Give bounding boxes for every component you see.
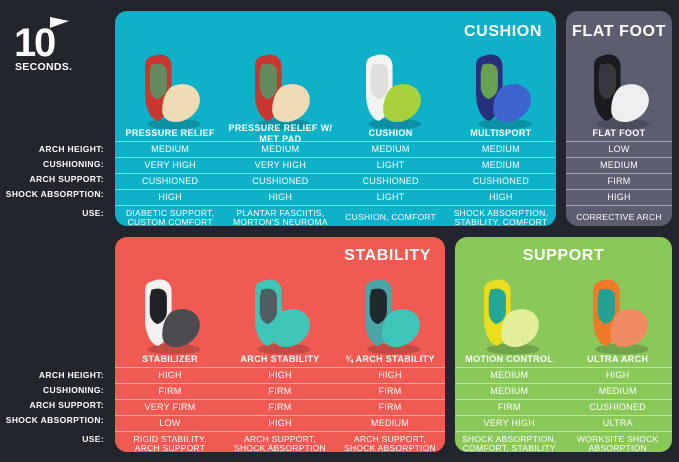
product-name-4: MULTISPORT	[446, 126, 556, 141]
row-label-group-bottom: ARCH HEIGHT:CUSHIONING:ARCH SUPPORT:SHOC…	[0, 367, 112, 451]
spec-row-use: DIABETIC SUPPORT, CUSTOM COMFORTPLANTAR …	[115, 205, 556, 226]
panel-support-title: SUPPORT	[455, 247, 672, 265]
product-name-2: PRESSURE RELIEF W/ MET PAD	[225, 126, 335, 141]
spec-value-arch-height-2: HIGH	[564, 368, 673, 383]
row-label-shock-absorption: SHOCK ABSORPTION:	[0, 412, 112, 427]
product-image-1	[115, 45, 225, 133]
product-image-1	[115, 269, 225, 359]
spec-value-shock-absorption-2: HIGH	[225, 416, 335, 431]
spec-value-use-1: CORRECTIVE ARCH	[566, 206, 672, 226]
panel-flat-foot: FLAT FOOT FLAT FOOTLOWMEDIUMFIRMHIGHCORR…	[566, 11, 672, 226]
spec-value-cushioning-1: MEDIUM	[455, 384, 564, 399]
insole-illustration	[580, 45, 658, 133]
spec-header-row: PRESSURE RELIEFPRESSURE RELIEF W/ MET PA…	[115, 126, 556, 141]
spec-value-shock-absorption-3: LIGHT	[336, 190, 446, 205]
panel-stability: STABILITY STABILIZERARCH STABILITY¾ ARCH…	[115, 237, 445, 452]
spec-row-cushioning: FIRMFIRMFIRM	[115, 383, 445, 399]
product-image-3	[336, 45, 446, 133]
spec-row-shock-absorption: HIGHHIGHLIGHTHIGH	[115, 189, 556, 205]
panel-stability-spec-table: STABILIZERARCH STABILITY¾ ARCH STABILITY…	[115, 352, 445, 452]
spec-value-use-2: WORKSITE SHOCK ABSORPTION	[564, 432, 673, 452]
spec-value-cushioning-2: VERY HIGH	[225, 158, 335, 173]
row-label-use: USE:	[0, 201, 112, 225]
spec-value-use-3: CUSHION, COMFORT	[336, 206, 446, 226]
spec-row-arch-height: MEDIUMHIGH	[455, 367, 672, 383]
panel-cushion-title: CUSHION	[464, 23, 542, 41]
spec-value-cushioning-1: VERY HIGH	[115, 158, 225, 173]
product-image-4	[446, 45, 556, 133]
insole-illustration	[241, 269, 319, 359]
spec-row-use: SHOCK ABSORPTION, COMFORT, STABILITYWORK…	[455, 431, 672, 452]
insole-illustration	[352, 45, 430, 133]
row-label-group-top: ARCH HEIGHT:CUSHIONING:ARCH SUPPORT:SHOC…	[0, 141, 112, 225]
spec-value-arch-support-1: FIRM	[455, 400, 564, 415]
panel-stability-products	[115, 269, 445, 359]
product-image-1	[566, 45, 672, 133]
spec-value-cushioning-4: MEDIUM	[446, 158, 556, 173]
spec-value-arch-support-3: CUSHIONED	[336, 174, 446, 189]
logo-numeral: 1 0	[13, 16, 75, 58]
product-image-1	[455, 269, 564, 359]
product-name-1: PRESSURE RELIEF	[115, 126, 225, 141]
row-label-cushioning: CUSHIONING:	[0, 382, 112, 397]
spec-value-use-1: DIABETIC SUPPORT, CUSTOM COMFORT	[115, 206, 225, 226]
spec-row-cushioning: MEDIUM	[566, 157, 672, 173]
spec-value-arch-height-1: LOW	[566, 142, 672, 157]
spec-row-arch-support: FIRMCUSHIONED	[455, 399, 672, 415]
insole-illustration	[462, 45, 540, 133]
spec-row-arch-support: CUSHIONEDCUSHIONEDCUSHIONEDCUSHIONED	[115, 173, 556, 189]
spec-value-use-1: SHOCK ABSORPTION, COMFORT, STABILITY	[455, 432, 564, 452]
product-name-3: CUSHION	[336, 126, 446, 141]
logo-wordmark: SECONDS.	[15, 61, 72, 73]
spec-value-shock-absorption-2: ULTRA	[564, 416, 673, 431]
spec-row-shock-absorption: HIGH	[566, 189, 672, 205]
insole-comparison-chart: 1 0 SECONDS. ARCH HEIGHT:CUSHIONING:ARCH…	[0, 0, 679, 462]
spec-value-shock-absorption-1: LOW	[115, 416, 225, 431]
spec-value-cushioning-1: FIRM	[115, 384, 225, 399]
spec-value-arch-height-4: MEDIUM	[446, 142, 556, 157]
spec-value-use-2: PLANTAR FASCIITIS, MORTON'S NEUROMA	[225, 206, 335, 226]
spec-row-arch-support: VERY FIRMFIRMFIRM	[115, 399, 445, 415]
product-name-1: STABILIZER	[115, 352, 225, 367]
spec-value-arch-height-1: HIGH	[115, 368, 225, 383]
row-label-shock-absorption: SHOCK ABSORPTION:	[0, 186, 112, 201]
spec-value-use-4: SHOCK ABSORPTION, STABILITY, COMFORT	[446, 206, 556, 226]
spec-value-arch-support-4: CUSHIONED	[446, 174, 556, 189]
spec-value-arch-support-2: CUSHIONED	[225, 174, 335, 189]
panel-flat-foot-title: FLAT FOOT	[566, 23, 672, 41]
product-name-1: FLAT FOOT	[566, 126, 672, 141]
spec-value-shock-absorption-1: HIGH	[115, 190, 225, 205]
spec-value-use-2: ARCH SUPPORT, SHOCK ABSORPTION	[225, 432, 335, 452]
spec-row-arch-height: MEDIUMMEDIUMMEDIUMMEDIUM	[115, 141, 556, 157]
spec-value-arch-height-3: MEDIUM	[336, 142, 446, 157]
panel-flat-foot-spec-table: FLAT FOOTLOWMEDIUMFIRMHIGHCORRECTIVE ARC…	[566, 126, 672, 226]
spec-row-cushioning: MEDIUMMEDIUM	[455, 383, 672, 399]
spec-value-arch-support-3: FIRM	[335, 400, 445, 415]
spec-value-arch-height-3: HIGH	[335, 368, 445, 383]
spec-value-cushioning-1: MEDIUM	[566, 158, 672, 173]
product-name-2: ARCH STABILITY	[225, 352, 335, 367]
row-label-arch-support: ARCH SUPPORT:	[0, 171, 112, 186]
spec-row-use: CORRECTIVE ARCH	[566, 205, 672, 226]
spec-value-use-3: ARCH SUPPORT, SHOCK ABSORPTION	[335, 432, 445, 452]
spec-value-arch-support-2: FIRM	[225, 400, 335, 415]
spec-value-arch-height-1: MEDIUM	[115, 142, 225, 157]
spec-value-cushioning-2: MEDIUM	[564, 384, 673, 399]
product-image-2	[564, 269, 673, 359]
insole-illustration	[470, 269, 548, 359]
insole-illustration	[351, 269, 429, 359]
spec-value-arch-height-2: HIGH	[225, 368, 335, 383]
spec-row-shock-absorption: LOWHIGHMEDIUM	[115, 415, 445, 431]
product-name-1: MOTION CONTROL	[455, 352, 564, 367]
spec-row-use: RIGID STABILITY, ARCH SUPPORTARCH SUPPOR…	[115, 431, 445, 452]
panel-flat-foot-products	[566, 45, 672, 133]
spec-value-shock-absorption-2: HIGH	[225, 190, 335, 205]
row-label-arch-height: ARCH HEIGHT:	[0, 367, 112, 382]
product-image-3	[335, 269, 445, 359]
row-label-use: USE:	[0, 427, 112, 451]
panel-stability-title: STABILITY	[344, 247, 431, 265]
spec-row-arch-height: LOW	[566, 141, 672, 157]
flag-icon	[49, 16, 71, 31]
spec-row-arch-support: FIRM	[566, 173, 672, 189]
spec-value-shock-absorption-3: MEDIUM	[335, 416, 445, 431]
panel-support-products	[455, 269, 672, 359]
spec-value-arch-support-1: VERY FIRM	[115, 400, 225, 415]
spec-value-cushioning-3: LIGHT	[336, 158, 446, 173]
spec-value-arch-height-1: MEDIUM	[455, 368, 564, 383]
panel-cushion: CUSHION PRESSURE RELIEFPRESSURE RELIEF W…	[115, 11, 556, 226]
insole-illustration	[579, 269, 657, 359]
spec-row-shock-absorption: VERY HIGHULTRA	[455, 415, 672, 431]
panel-cushion-products	[115, 45, 556, 133]
product-image-2	[225, 45, 335, 133]
spec-value-shock-absorption-1: VERY HIGH	[455, 416, 564, 431]
product-name-2: ULTRA ARCH	[564, 352, 673, 367]
spec-header-row: FLAT FOOT	[566, 126, 672, 141]
spec-value-arch-support-1: FIRM	[566, 174, 672, 189]
product-image-2	[225, 269, 335, 359]
insole-illustration	[241, 45, 319, 133]
insole-illustration	[131, 45, 209, 133]
spec-value-cushioning-2: FIRM	[225, 384, 335, 399]
spec-value-arch-support-1: CUSHIONED	[115, 174, 225, 189]
row-label-arch-height: ARCH HEIGHT:	[0, 141, 112, 156]
spec-value-shock-absorption-1: HIGH	[566, 190, 672, 205]
brand-logo: 1 0 SECONDS.	[13, 16, 85, 78]
spec-row-cushioning: VERY HIGHVERY HIGHLIGHTMEDIUM	[115, 157, 556, 173]
spec-value-arch-height-2: MEDIUM	[225, 142, 335, 157]
spec-row-arch-height: HIGHHIGHHIGH	[115, 367, 445, 383]
insole-illustration	[131, 269, 209, 359]
panel-support: SUPPORT MOTION CONTROLULTRA ARCHMEDIUMHI…	[455, 237, 672, 452]
logo-digit-one: 1	[14, 23, 35, 63]
row-label-cushioning: CUSHIONING:	[0, 156, 112, 171]
row-label-arch-support: ARCH SUPPORT:	[0, 397, 112, 412]
panel-cushion-spec-table: PRESSURE RELIEFPRESSURE RELIEF W/ MET PA…	[115, 126, 556, 226]
product-name-3: ¾ ARCH STABILITY	[335, 352, 445, 367]
spec-value-shock-absorption-4: HIGH	[446, 190, 556, 205]
spec-header-row: STABILIZERARCH STABILITY¾ ARCH STABILITY	[115, 352, 445, 367]
panel-support-spec-table: MOTION CONTROLULTRA ARCHMEDIUMHIGHMEDIUM…	[455, 352, 672, 452]
spec-value-arch-support-2: CUSHIONED	[564, 400, 673, 415]
spec-value-cushioning-3: FIRM	[335, 384, 445, 399]
spec-header-row: MOTION CONTROLULTRA ARCH	[455, 352, 672, 367]
spec-value-use-1: RIGID STABILITY, ARCH SUPPORT	[115, 432, 225, 452]
